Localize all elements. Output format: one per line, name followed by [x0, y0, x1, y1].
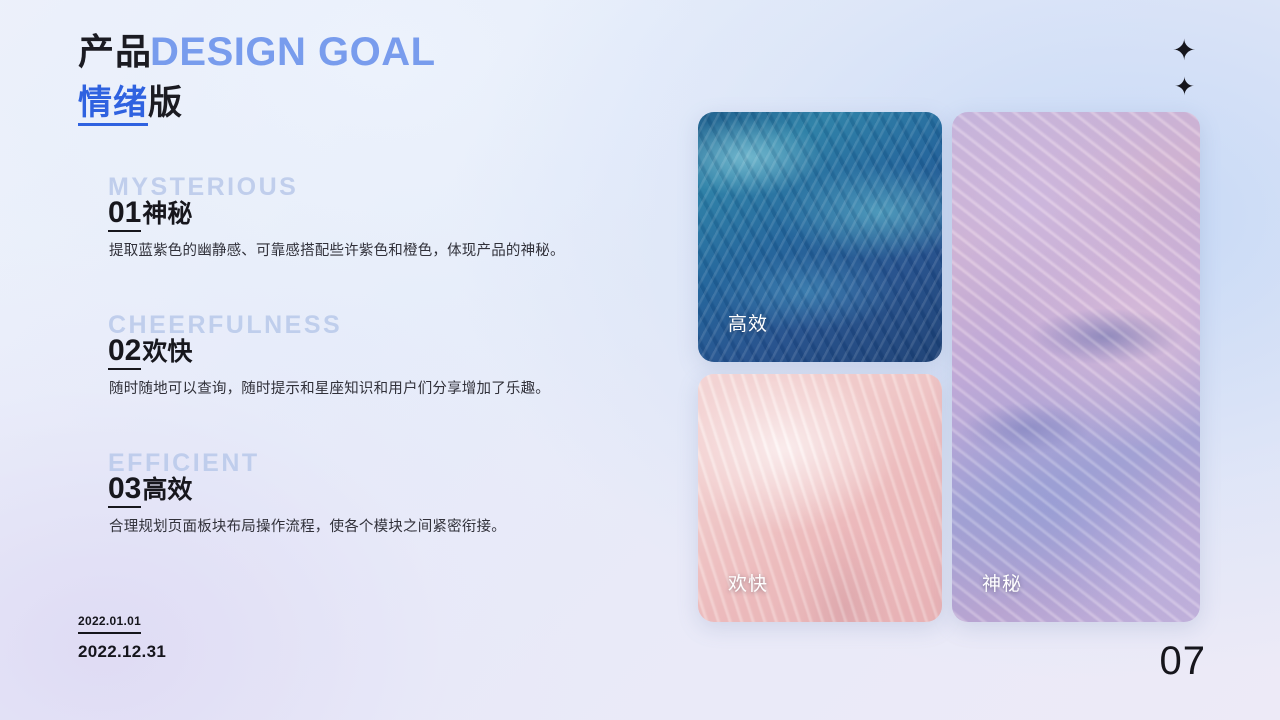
list-item-number: 02	[108, 334, 141, 370]
title-accent-text: 情绪	[78, 84, 148, 126]
list-item-heading: 01神秘	[108, 194, 192, 237]
sparkle-icon: ✦	[1172, 38, 1196, 64]
list-item-heading: 02欢快	[108, 332, 192, 375]
date-range: 2022.01.01 2022.12.31	[78, 612, 166, 662]
title-line-2: 情绪版	[78, 80, 183, 126]
list-item-title: 神秘	[142, 200, 192, 228]
sparkle-icon: ✦	[1174, 74, 1195, 100]
date-start: 2022.01.01	[78, 614, 141, 634]
mood-card-caption: 高效	[728, 309, 768, 336]
list-item: MYSTERIOUS 01神秘 提取蓝紫色的幽静感、可靠感搭配些许紫色和橙色，体…	[108, 172, 668, 310]
list-item-description: 提取蓝紫色的幽静感、可靠感搭配些许紫色和橙色，体现产品的神秘。	[109, 240, 565, 262]
title-chinese-line-1: 产品	[78, 26, 152, 78]
page-number: 07	[1160, 639, 1207, 684]
slide-canvas: DESIGN GOAL 产品 情绪版 ✦ ✦ MYSTERIOUS 01神秘 提…	[0, 0, 1280, 720]
title-chinese-line-2: 情绪版	[78, 80, 183, 126]
mood-card-caption: 神秘	[982, 569, 1022, 596]
list-item-description: 合理规划页面板块布局操作流程，使各个模块之间紧密衔接。	[109, 516, 506, 538]
list-item-heading: 03高效	[108, 470, 192, 513]
list-item-description: 随时随地可以查询，随时提示和星座知识和用户们分享增加了乐趣。	[109, 378, 550, 400]
mood-card-cheerful: 欢快	[698, 374, 942, 622]
date-end: 2022.12.31	[78, 642, 166, 662]
mood-card-mysterious: 神秘	[952, 112, 1200, 622]
title-tail-text: 版	[148, 84, 183, 122]
list-item: EFFICIENT 03高效 合理规划页面板块布局操作流程，使各个模块之间紧密衔…	[108, 448, 668, 586]
title-line-1: DESIGN GOAL 产品	[78, 26, 183, 78]
goal-list: MYSTERIOUS 01神秘 提取蓝紫色的幽静感、可靠感搭配些许紫色和橙色，体…	[108, 172, 668, 586]
title-ghost-text: DESIGN GOAL	[150, 26, 436, 78]
list-item-title: 欢快	[142, 338, 192, 366]
violet-feather-texture	[952, 112, 1200, 622]
list-item-title: 高效	[142, 476, 192, 504]
mood-card-efficient: 高效	[698, 112, 942, 362]
list-item-number: 01	[108, 196, 141, 232]
sparkle-decoration-group: ✦ ✦	[1168, 38, 1208, 110]
list-item-number: 03	[108, 472, 141, 508]
list-item: CHEERFULNESS 02欢快 随时随地可以查询，随时提示和星座知识和用户们…	[108, 310, 668, 448]
mood-card-caption: 欢快	[728, 569, 768, 596]
page-title: DESIGN GOAL 产品 情绪版	[78, 26, 183, 126]
